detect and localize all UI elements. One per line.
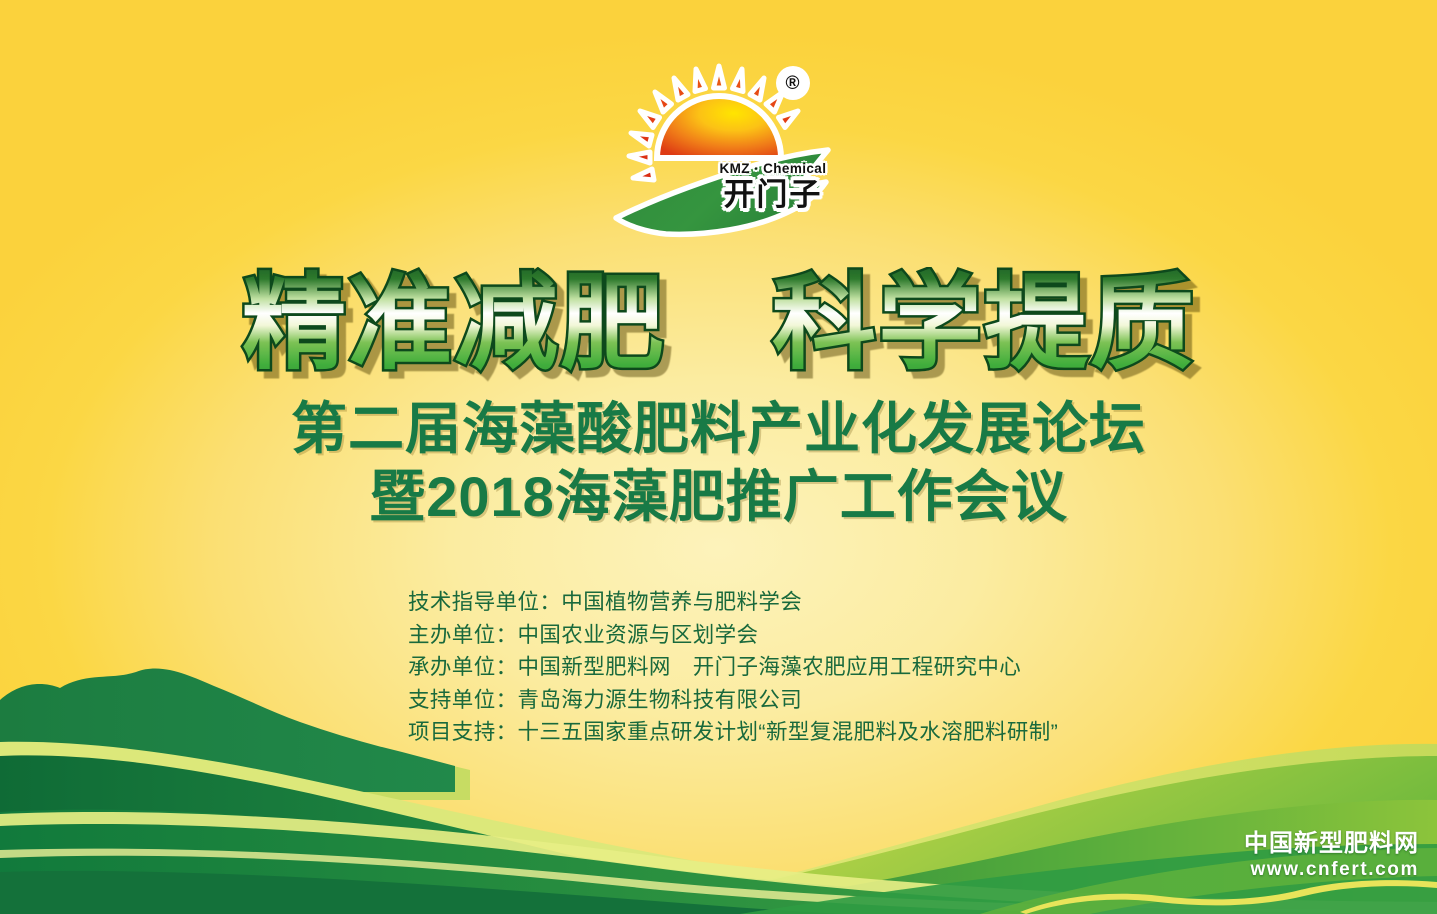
subtitle-line-2: 暨2018海藻肥推广工作会议 <box>0 466 1437 529</box>
credit-line-organizer: 主办单位：中国农业资源与区划学会 <box>408 619 1058 652</box>
headline-text: 精准减肥 科学提质 <box>241 267 1195 384</box>
logo-brand-text: KMZ · Chemical 开门子 <box>720 162 827 210</box>
headline-graphic: 精准减肥 科学提质 <box>189 267 1249 389</box>
sun-dome-icon <box>657 96 781 158</box>
logo-container: ® KMZ · Chemical 开门子 <box>0 62 1437 247</box>
watermark-url: www.cnfert.com <box>1244 860 1419 880</box>
subtitle-line-1: 第二届海藻酸肥料产业化发展论坛 <box>0 398 1437 461</box>
site-watermark: 中国新型肥料网 www.cnfert.com <box>1244 831 1419 880</box>
brand-logo: ® KMZ · Chemical 开门子 <box>604 62 834 247</box>
credits-block: 技术指导单位：中国植物营养与肥料学会 主办单位：中国农业资源与区划学会 承办单位… <box>408 586 1058 749</box>
watermark-site-name: 中国新型肥料网 <box>1244 831 1419 856</box>
registered-trademark-icon: ® <box>776 66 810 100</box>
event-poster: ® KMZ · Chemical 开门子 <box>0 0 1437 914</box>
subtitle-container: 第二届海藻酸肥料产业化发展论坛 暨2018海藻肥推广工作会议 <box>0 398 1437 528</box>
credit-line-technical-guidance: 技术指导单位：中国植物营养与肥料学会 <box>408 586 1058 619</box>
credit-line-supporter: 支持单位：青岛海力源生物科技有限公司 <box>408 684 1058 717</box>
credit-line-project-support: 项目支持：十三五国家重点研发计划“新型复混肥料及水溶肥料研制” <box>408 716 1058 749</box>
headline-container: 精准减肥 科学提质 <box>0 268 1437 388</box>
logo-latin-name: KMZ · Chemical <box>720 162 827 176</box>
logo-chinese-name: 开门子 <box>720 179 827 210</box>
credit-line-co-organizer: 承办单位：中国新型肥料网 开门子海藻农肥应用工程研究中心 <box>408 651 1058 684</box>
